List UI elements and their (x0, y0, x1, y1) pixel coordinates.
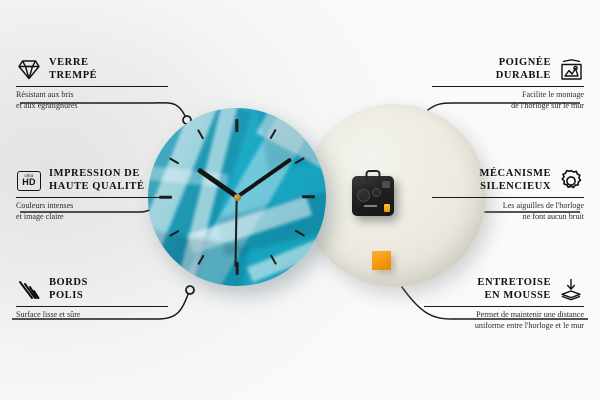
feature-poignee-durable: POIGNÉEDURABLE Facilite le montagede l'h… (432, 57, 584, 112)
movement-dial (357, 189, 370, 202)
divider (16, 197, 168, 198)
divider (432, 197, 584, 198)
feature-bords-polis: BORDSPOLIS Surface lisse et sûre (16, 277, 168, 321)
ultra-hd-icon: ultra HD (16, 169, 42, 193)
feature-title: MÉCANISMESILENCIEUX (480, 168, 551, 194)
movement-dial-small (372, 188, 381, 197)
divider (16, 86, 168, 87)
feature-description: Résistant aux briset aux égratignures (16, 90, 168, 112)
feature-title: IMPRESSION DEHAUTE QUALITÉ (49, 168, 145, 194)
divider (424, 306, 584, 307)
feature-title: ENTRETOISEEN MOUSSE (477, 277, 551, 303)
hanger-tab-icon (366, 170, 381, 179)
infographic-canvas: VERRETREMPÉ Résistant aux briset aux égr… (0, 0, 600, 400)
feature-verre-trempe: VERRETREMPÉ Résistant aux briset aux égr… (16, 57, 168, 112)
feature-entretoise-en-mousse: ENTRETOISEEN MOUSSE Permet de maintenir … (424, 277, 584, 332)
foam-spacer-icon (558, 278, 584, 302)
foam-spacer (372, 251, 391, 270)
feature-mecanisme-silencieux: MÉCANISMESILENCIEUX Les aiguilles de l'h… (432, 168, 584, 223)
divider (16, 306, 168, 307)
clock-front-face (148, 108, 326, 286)
quartz-movement (352, 176, 394, 216)
diamond-icon (16, 58, 42, 82)
feature-title: VERRETREMPÉ (49, 57, 97, 83)
battery-band (364, 205, 377, 207)
feature-description: Couleurs intenseset image claire (16, 201, 168, 223)
feature-title: BORDSPOLIS (49, 277, 88, 303)
feature-description: Surface lisse et sûre (16, 310, 168, 321)
feature-impression-haute-qualite: ultra HD IMPRESSION DEHAUTE QUALITÉ Coul… (16, 168, 168, 223)
hand-hub (234, 194, 241, 201)
ultra-hd-bottom-text: HD (22, 178, 36, 187)
feature-description: Facilite le montagede l'horloge sur le m… (432, 90, 584, 112)
feature-description: Permet de maintenir une distanceuniforme… (424, 310, 584, 332)
feature-title: POIGNÉEDURABLE (496, 57, 551, 83)
feature-description: Les aiguilles de l'horlogene font aucun … (432, 201, 584, 223)
wall-hanger-icon (558, 58, 584, 82)
hour-tick (302, 195, 315, 198)
hour-tick (235, 119, 238, 132)
connector-dot-3 (186, 286, 194, 294)
movement-chip (382, 181, 390, 188)
aa-battery (355, 203, 391, 213)
polished-edges-icon (16, 278, 42, 302)
divider (432, 86, 584, 87)
gear-icon (558, 169, 584, 193)
